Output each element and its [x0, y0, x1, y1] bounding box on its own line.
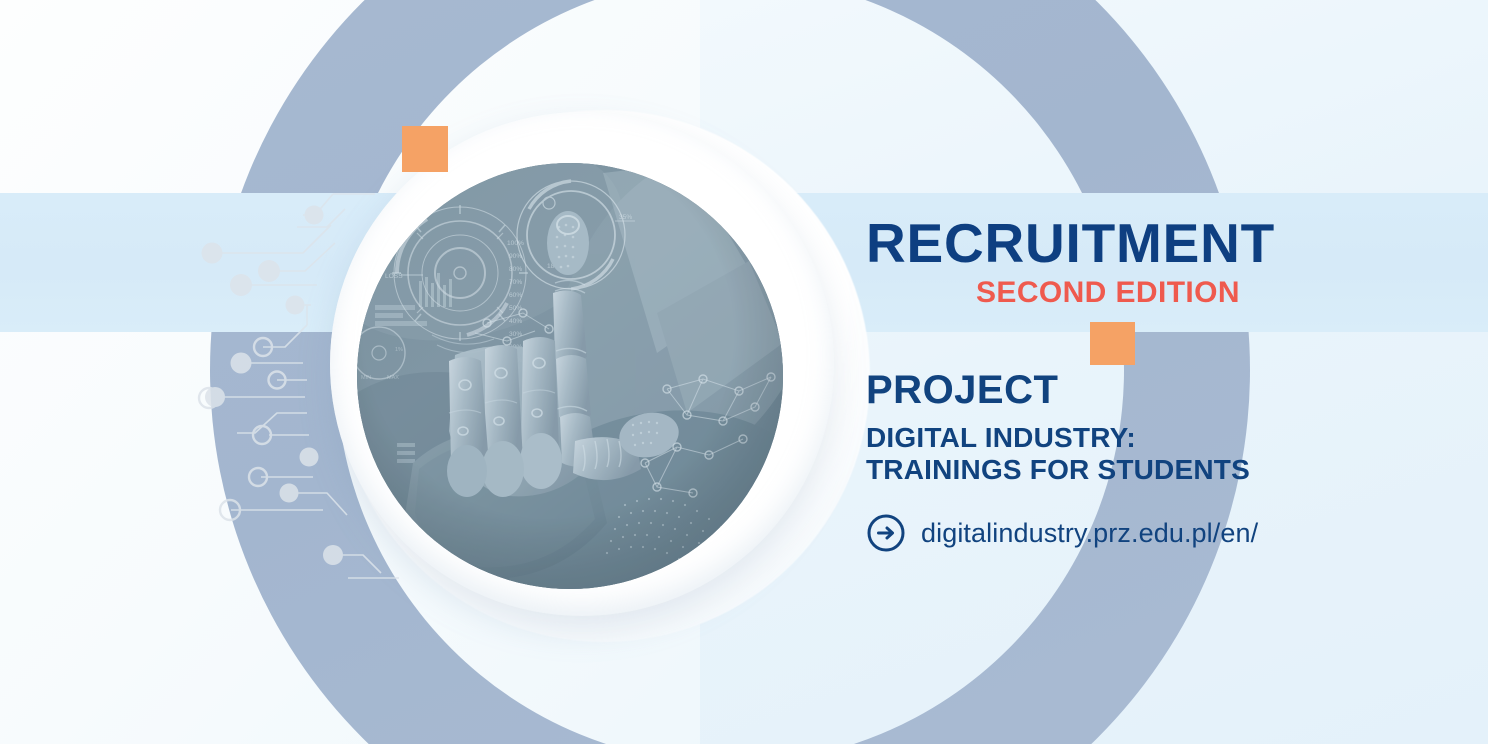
project-name-line-2: TRAININGS FOR STUDENTS: [866, 454, 1250, 486]
headline-subtitle: SECOND EDITION: [976, 278, 1240, 308]
project-name: DIGITAL INDUSTRY: TRAININGS FOR STUDENTS: [866, 422, 1250, 487]
orange-square-top: [402, 126, 448, 172]
arrow-right-circle-icon[interactable]: [866, 513, 906, 553]
recruitment-banner: 100% 90% 80% 70% 60% 50% 40% 30% 20% 10%…: [0, 0, 1488, 744]
project-url-text[interactable]: digitalindustry.prz.edu.pl/en/: [921, 518, 1258, 549]
project-url-row[interactable]: digitalindustry.prz.edu.pl/en/: [866, 513, 1258, 553]
project-label: PROJECT: [866, 370, 1058, 410]
text-column: RECRUITMENT SECOND EDITION PROJECT DIGIT…: [866, 0, 1488, 744]
project-name-line-1: DIGITAL INDUSTRY:: [866, 422, 1250, 454]
robotic-hand-photo: 100% 90% 80% 70% 60% 50% 40% 30% 20% 10%…: [357, 163, 783, 589]
headline-title: RECRUITMENT: [866, 216, 1275, 271]
